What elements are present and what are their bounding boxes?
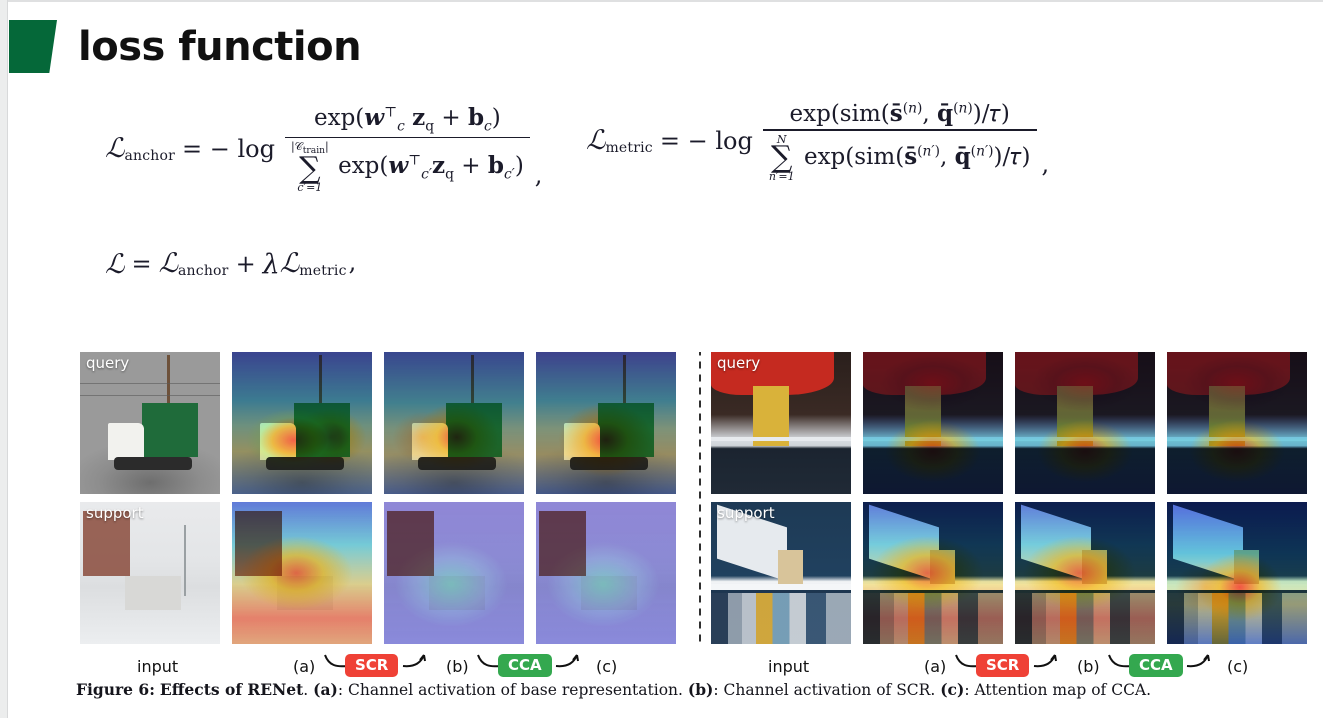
equation-total-term-metric-sub: metric (299, 264, 346, 280)
figure-6: query (80, 352, 1248, 683)
image-tag-support: support (717, 504, 775, 523)
equation-anchor-denominator: |𝒞train| ∑ c′=1 exp(w⊤c′zq + bc′) (285, 138, 530, 193)
equation-total-term-anchor: ℒanchor (159, 248, 229, 279)
label-c: (c) (1227, 657, 1248, 676)
cell-support-a[interactable] (232, 502, 372, 644)
caption-figure-number: Figure 6: (76, 680, 155, 699)
equation-anchor-lhs: ℒanchor (105, 133, 175, 164)
sum-symbol: |𝒞train| ∑ c′=1 (291, 141, 329, 193)
figure-row-support: support (711, 502, 1319, 644)
caption-b-text: : Channel activation of SCR. (713, 681, 940, 699)
page-title: loss function (78, 21, 361, 73)
equation-total: ℒ = ℒanchor + λ ℒmetric , (105, 248, 356, 280)
arrow-icon-cca-right (1185, 653, 1211, 669)
heatmap-overlay (232, 502, 372, 644)
cell-query-c[interactable] (536, 352, 676, 494)
figure-groups: query (80, 352, 1248, 683)
cell-query-a[interactable] (863, 352, 1003, 494)
cell-query-a[interactable] (232, 352, 372, 494)
figure-row-query: query (80, 352, 688, 494)
heatmap-overlay (536, 502, 676, 644)
arrow-icon-scr-right (1032, 653, 1058, 669)
equation-total-trailing-comma: , (349, 248, 357, 280)
equation-metric-fraction: exp(sim(s̄(n), q̄(n))/𝜏) N ∑ n′=1 exp(si… (763, 100, 1037, 182)
cell-query-b[interactable] (1015, 352, 1155, 494)
sum-symbol: N ∑ n′=1 (769, 134, 795, 182)
label-a: (a) (293, 657, 315, 676)
caption-a-text: : Channel activation of base representat… (338, 681, 688, 699)
heatmap-overlay (863, 352, 1003, 494)
badge-cca[interactable]: CCA (1129, 654, 1183, 677)
cell-query-c[interactable] (1167, 352, 1307, 494)
label-a: (a) (924, 657, 946, 676)
heatmap-overlay (863, 502, 1003, 644)
caption-b-label: (b) (688, 680, 714, 699)
green-accent-shape (9, 20, 57, 73)
equation-anchor-numerator: exp(w⊤c zq + bc) (308, 104, 507, 137)
image-tag-query: query (86, 354, 129, 373)
equation-metric-denominator: N ∑ n′=1 exp(sim(s̄(n′), q̄(n′))/𝜏) (763, 131, 1037, 182)
heatmap-overlay (384, 352, 524, 494)
equation-metric-lhs-subscript: metric (605, 140, 652, 156)
heatmap-overlay (232, 352, 372, 494)
arrow-icon-cca-right (554, 653, 580, 669)
label-c: (c) (596, 657, 617, 676)
figure-row-query: query (711, 352, 1319, 494)
equation-anchor-lhs-subscript: anchor (124, 148, 175, 164)
image-tag-query: query (717, 354, 760, 373)
heatmap-overlay (1015, 502, 1155, 644)
cell-query-input[interactable]: query (80, 352, 220, 494)
equation-metric-numerator: exp(sim(s̄(n), q̄(n))/𝜏) (784, 100, 1016, 129)
label-input: input (768, 657, 809, 676)
equation-total-term-metric: ℒmetric (280, 248, 347, 279)
equation-total-lhs: ℒ (105, 249, 124, 280)
figure-labels-gymnast: input (a) SCR (b) CCA (711, 649, 1319, 683)
cell-support-c[interactable] (536, 502, 676, 644)
heatmap-overlay (1015, 352, 1155, 494)
figure-row-support: support (80, 502, 688, 644)
heatmap-overlay (1167, 352, 1307, 494)
cell-query-input[interactable]: query (711, 352, 851, 494)
figure-caption: Figure 6: Effects of RENet. (a): Channel… (76, 680, 1256, 700)
figure-divider (694, 352, 705, 644)
caption-title: Effects of RENet (160, 680, 303, 699)
slide-left-edge (0, 0, 8, 718)
badge-scr[interactable]: SCR (345, 654, 398, 677)
cell-support-input[interactable]: support (711, 502, 851, 644)
equation-anchor: ℒanchor = − log exp(w⊤c zq + bc) |𝒞train… (105, 104, 542, 193)
arrow-icon-scr-right (401, 653, 427, 669)
caption-c-label: (c) (940, 680, 964, 699)
label-b: (b) (1077, 657, 1100, 676)
equation-metric-trailing-comma: , (1042, 150, 1050, 182)
image-tag-support: support (86, 504, 144, 523)
heatmap-overlay (536, 352, 676, 494)
label-input: input (137, 657, 178, 676)
equation-metric-operator: = − log (660, 127, 753, 155)
slide-top-edge (0, 0, 1323, 2)
equation-anchor-operator: = − log (182, 135, 275, 163)
equation-total-plus: + (236, 250, 256, 278)
caption-a-label: (a) (313, 680, 338, 699)
figure-labels-truck: input (a) SCR (b) CCA (80, 649, 688, 683)
figure-group-gymnast: query (711, 352, 1319, 683)
cell-support-b[interactable] (1015, 502, 1155, 644)
equation-total-term-anchor-sub: anchor (178, 264, 229, 280)
cell-support-c[interactable] (1167, 502, 1307, 644)
equation-total-equals: = (131, 250, 151, 278)
equation-metric: ℒmetric = − log exp(sim(s̄(n), q̄(n))/𝜏)… (586, 100, 1049, 182)
badge-scr[interactable]: SCR (976, 654, 1029, 677)
cell-support-input[interactable]: support (80, 502, 220, 644)
equation-anchor-trailing-comma: , (535, 161, 543, 193)
heatmap-overlay (1167, 502, 1307, 644)
caption-c-text: : Attention map of CCA. (964, 681, 1151, 699)
equation-metric-lhs: ℒmetric (586, 125, 653, 156)
figure-group-truck: query (80, 352, 688, 683)
heatmap-overlay (384, 502, 524, 644)
label-b: (b) (446, 657, 469, 676)
cell-query-b[interactable] (384, 352, 524, 494)
cell-support-b[interactable] (384, 502, 524, 644)
badge-cca[interactable]: CCA (498, 654, 552, 677)
equation-anchor-fraction: exp(w⊤c zq + bc) |𝒞train| ∑ c′=1 exp(w⊤c… (285, 104, 530, 193)
caption-sep-1: . (303, 681, 313, 699)
cell-support-a[interactable] (863, 502, 1003, 644)
equation-total-lambda: λ (263, 249, 280, 280)
